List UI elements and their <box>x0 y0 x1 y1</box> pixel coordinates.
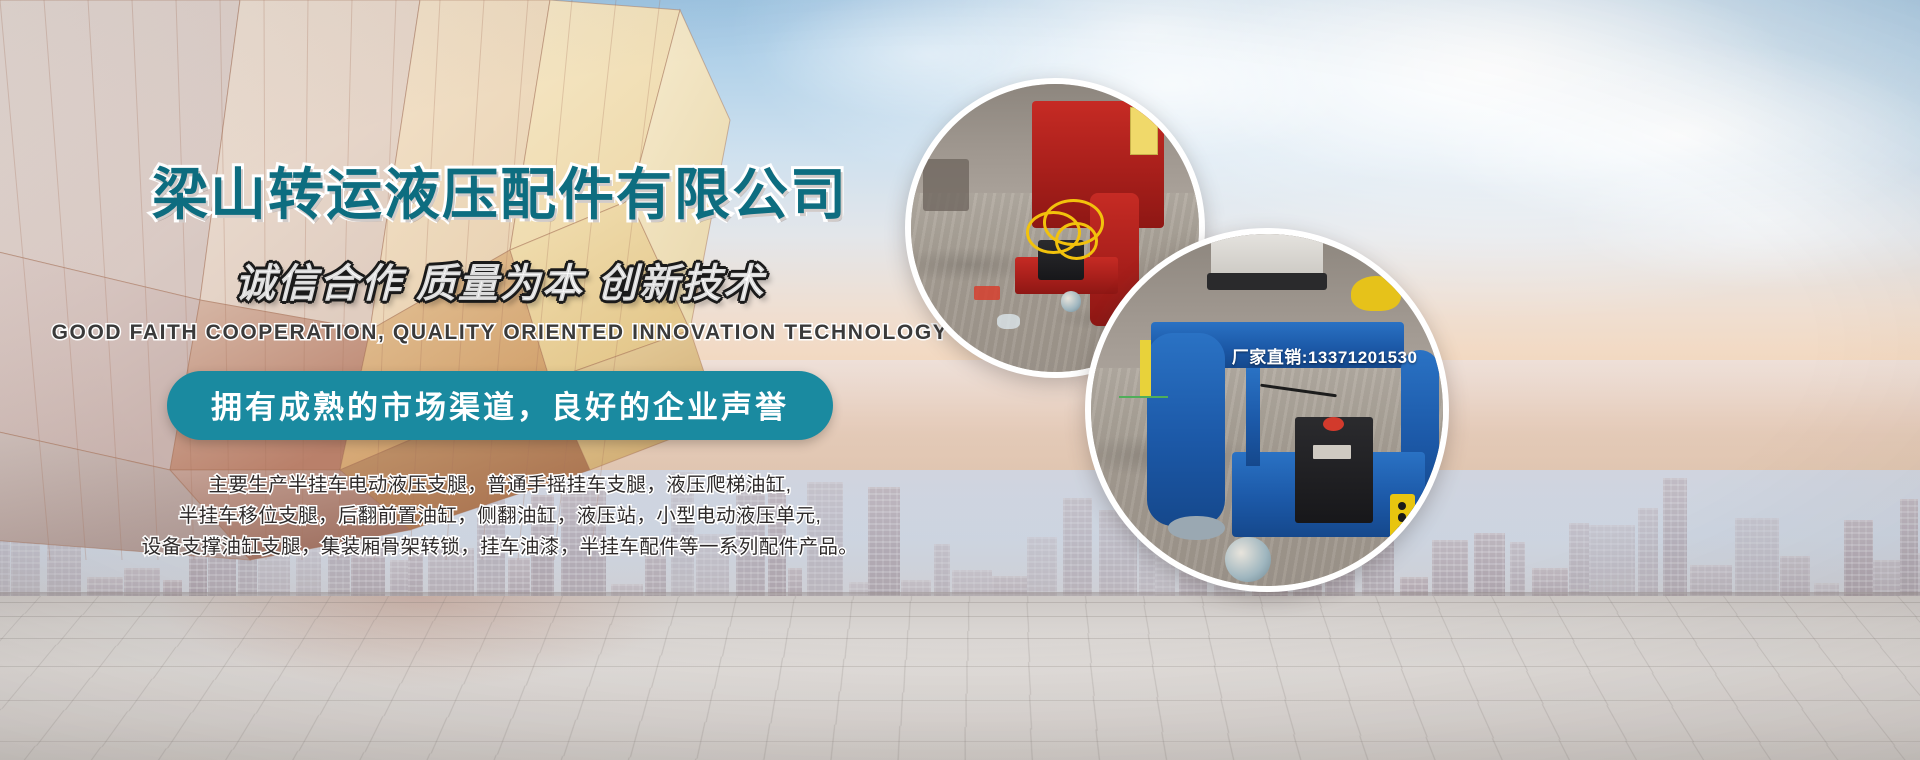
unit-nameplate <box>1313 445 1352 459</box>
caster-wheel <box>1225 537 1271 583</box>
company-title: 梁山转运液压配件有限公司 <box>0 150 1000 231</box>
yellow-equipment <box>1351 276 1400 311</box>
caster-wheel <box>1394 537 1436 579</box>
plaza-floor <box>0 596 1920 760</box>
vehicle-bumper <box>1207 273 1327 291</box>
description-line-2: 半挂车移位支腿，后翻前置油缸，侧翻油缸，液压站，小型电动液压单元, <box>0 501 1000 532</box>
banner-text-block: 梁山转运液压配件有限公司 诚信合作 质量为本 创新技术 GOOD FAITH C… <box>0 150 1000 563</box>
warning-sticker <box>1130 107 1158 155</box>
photo-scene: 厂家直销:13371201530 <box>1091 234 1443 586</box>
background-object <box>923 159 969 211</box>
product-photo-blue-lift[interactable]: 厂家直销:13371201530 <box>1085 228 1449 592</box>
manufacturer-phone-label: 厂家直销:13371201530 <box>1232 343 1418 368</box>
banner-subtitle-english: GOOD FAITH COOPERATION, QUALITY ORIENTED… <box>0 321 1000 345</box>
plaza-tile-lines-horizontal <box>0 596 1920 760</box>
banner-subtitle: 诚信合作 质量为本 创新技术 <box>0 251 1000 309</box>
cylinder-foot-pad <box>1168 516 1224 541</box>
description-line-1: 主要生产半挂车电动液压支腿，普通手摇挂车支腿，液压爬梯油缸, <box>0 470 1000 501</box>
slogan-pill: 拥有成熟的市场渠道，良好的企业声誉 <box>167 371 833 440</box>
hydraulic-power-unit <box>1295 417 1372 523</box>
yellow-decal <box>1140 340 1151 396</box>
description-line-3: 设备支撑油缸支腿，集装厢骨架转锁，挂车油漆，半挂车配件等一系列配件产品。 <box>0 532 1000 563</box>
green-hose <box>1119 396 1168 398</box>
blue-support-post <box>1246 368 1260 467</box>
hero-banner: 梁山转运液压配件有限公司 诚信合作 质量为本 创新技术 GOOD FAITH C… <box>0 0 1920 760</box>
debris-box <box>974 286 1000 300</box>
skyline-building <box>1663 478 1687 610</box>
caster-wheel <box>1061 291 1081 311</box>
debris-plastic <box>997 314 1020 328</box>
blue-cylinder-left <box>1147 333 1224 527</box>
slogan-row: 拥有成熟的市场渠道，良好的企业声誉 <box>0 371 1000 440</box>
product-description: 主要生产半挂车电动液压支腿，普通手摇挂车支腿，液压爬梯油缸, 半挂车移位支腿，后… <box>0 470 1000 563</box>
